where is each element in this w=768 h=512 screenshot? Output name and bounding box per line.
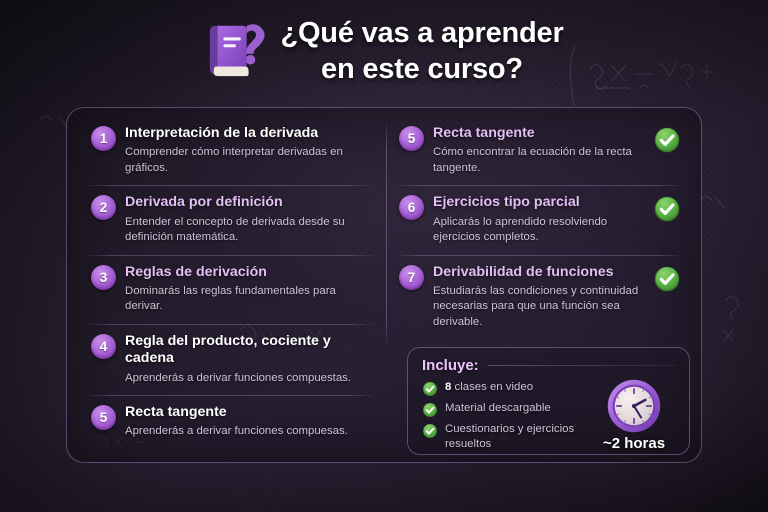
item-title: Derivabilidad de funciones xyxy=(433,264,644,281)
list-item[interactable]: 6 Ejercicios tipo parcial Aplicarás lo a… xyxy=(389,185,689,254)
item-number-badge: 2 xyxy=(91,195,116,220)
check-circle-icon xyxy=(653,265,681,293)
list-item: Material descargable xyxy=(422,401,592,418)
list-item[interactable]: 1 Interpretación de la derivada Comprend… xyxy=(81,116,381,185)
includes-body: 8 clases en video xyxy=(422,380,676,456)
book-question-icon xyxy=(204,20,266,80)
item-number-badge: 4 xyxy=(91,334,116,359)
includes-item-text: Cuestionarios y ejercicios resueltos xyxy=(445,422,592,452)
curriculum-panel: 1 Interpretación de la derivada Comprend… xyxy=(66,107,702,463)
item-description: Aplicarás lo aprendido resolviendo ejerc… xyxy=(433,215,644,246)
item-number-badge: 7 xyxy=(399,265,424,290)
includes-rule xyxy=(488,365,676,366)
includes-header: Incluye: xyxy=(422,357,676,374)
item-title: Reglas de derivación xyxy=(125,264,373,281)
includes-item-text: 8 clases en video xyxy=(445,380,533,395)
list-item[interactable]: 4 Regla del producto, cociente y cadena … xyxy=(81,324,381,395)
check-circle-icon xyxy=(653,126,681,154)
includes-box: Incluye: xyxy=(407,347,690,455)
item-number-badge: 1 xyxy=(91,126,116,151)
list-item[interactable]: 5 Recta tangente Aprenderás a derivar fu… xyxy=(81,395,381,449)
list-item: Cuestionarios y ejercicios resueltos xyxy=(422,422,592,452)
includes-title: Incluye: xyxy=(422,357,479,374)
left-column: 1 Interpretación de la derivada Comprend… xyxy=(81,116,381,449)
page-header: ¿Qué vas a aprender en este curso? xyxy=(0,16,768,87)
includes-list: 8 clases en video xyxy=(422,380,592,456)
column-divider xyxy=(386,120,387,348)
page-title-line-2: en este curso? xyxy=(280,52,563,88)
item-title: Regla del producto, cociente y cadena xyxy=(125,333,373,368)
includes-item-text: Material descargable xyxy=(445,401,551,416)
right-column: 5 Recta tangente Cómo encontrar la ecuac… xyxy=(389,116,689,339)
item-number-badge: 6 xyxy=(399,195,424,220)
duration-label: ~2 horas xyxy=(603,435,665,452)
check-circle-icon xyxy=(653,195,681,223)
check-circle-icon xyxy=(422,402,438,418)
list-item[interactable]: 2 Derivada por definición Entender el co… xyxy=(81,185,381,254)
check-circle-icon xyxy=(422,381,438,397)
item-title: Recta tangente xyxy=(125,404,373,421)
list-item[interactable]: 3 Reglas de derivación Dominarás las reg… xyxy=(81,255,381,324)
item-description: Dominarás las reglas fundamentales para … xyxy=(125,284,373,315)
item-title: Derivada por definición xyxy=(125,194,373,211)
item-description: Cómo encontrar la ecuación de la recta t… xyxy=(433,145,644,176)
item-title: Interpretación de la derivada xyxy=(125,125,373,142)
alarm-clock-icon xyxy=(606,378,662,434)
item-description: Entender el concepto de derivada desde s… xyxy=(125,215,373,246)
item-description: Comprender cómo interpretar derivadas en… xyxy=(125,145,373,176)
item-number-badge: 5 xyxy=(399,126,424,151)
item-number-badge: 3 xyxy=(91,265,116,290)
includes-item-label: clases en video xyxy=(451,381,533,393)
check-circle-icon xyxy=(422,423,438,439)
list-item[interactable]: 7 Derivabilidad de funciones Estudiarás … xyxy=(389,255,689,340)
item-description: Estudiarás las condiciones y continuidad… xyxy=(433,284,644,331)
duration-block: ~2 horas xyxy=(592,378,676,452)
item-title: Recta tangente xyxy=(433,125,644,142)
list-item: 8 clases en video xyxy=(422,380,592,397)
item-title: Ejercicios tipo parcial xyxy=(433,194,644,211)
list-item[interactable]: 5 Recta tangente Cómo encontrar la ecuac… xyxy=(389,116,689,185)
page-title: ¿Qué vas a aprender en este curso? xyxy=(280,16,563,87)
item-description: Aprenderás a derivar funciones compuesas… xyxy=(125,424,373,440)
item-description: Aprenderás a derivar funciones compuesta… xyxy=(125,371,373,387)
page-title-line-1: ¿Qué vas a aprender xyxy=(280,16,563,52)
item-number-badge: 5 xyxy=(91,405,116,430)
